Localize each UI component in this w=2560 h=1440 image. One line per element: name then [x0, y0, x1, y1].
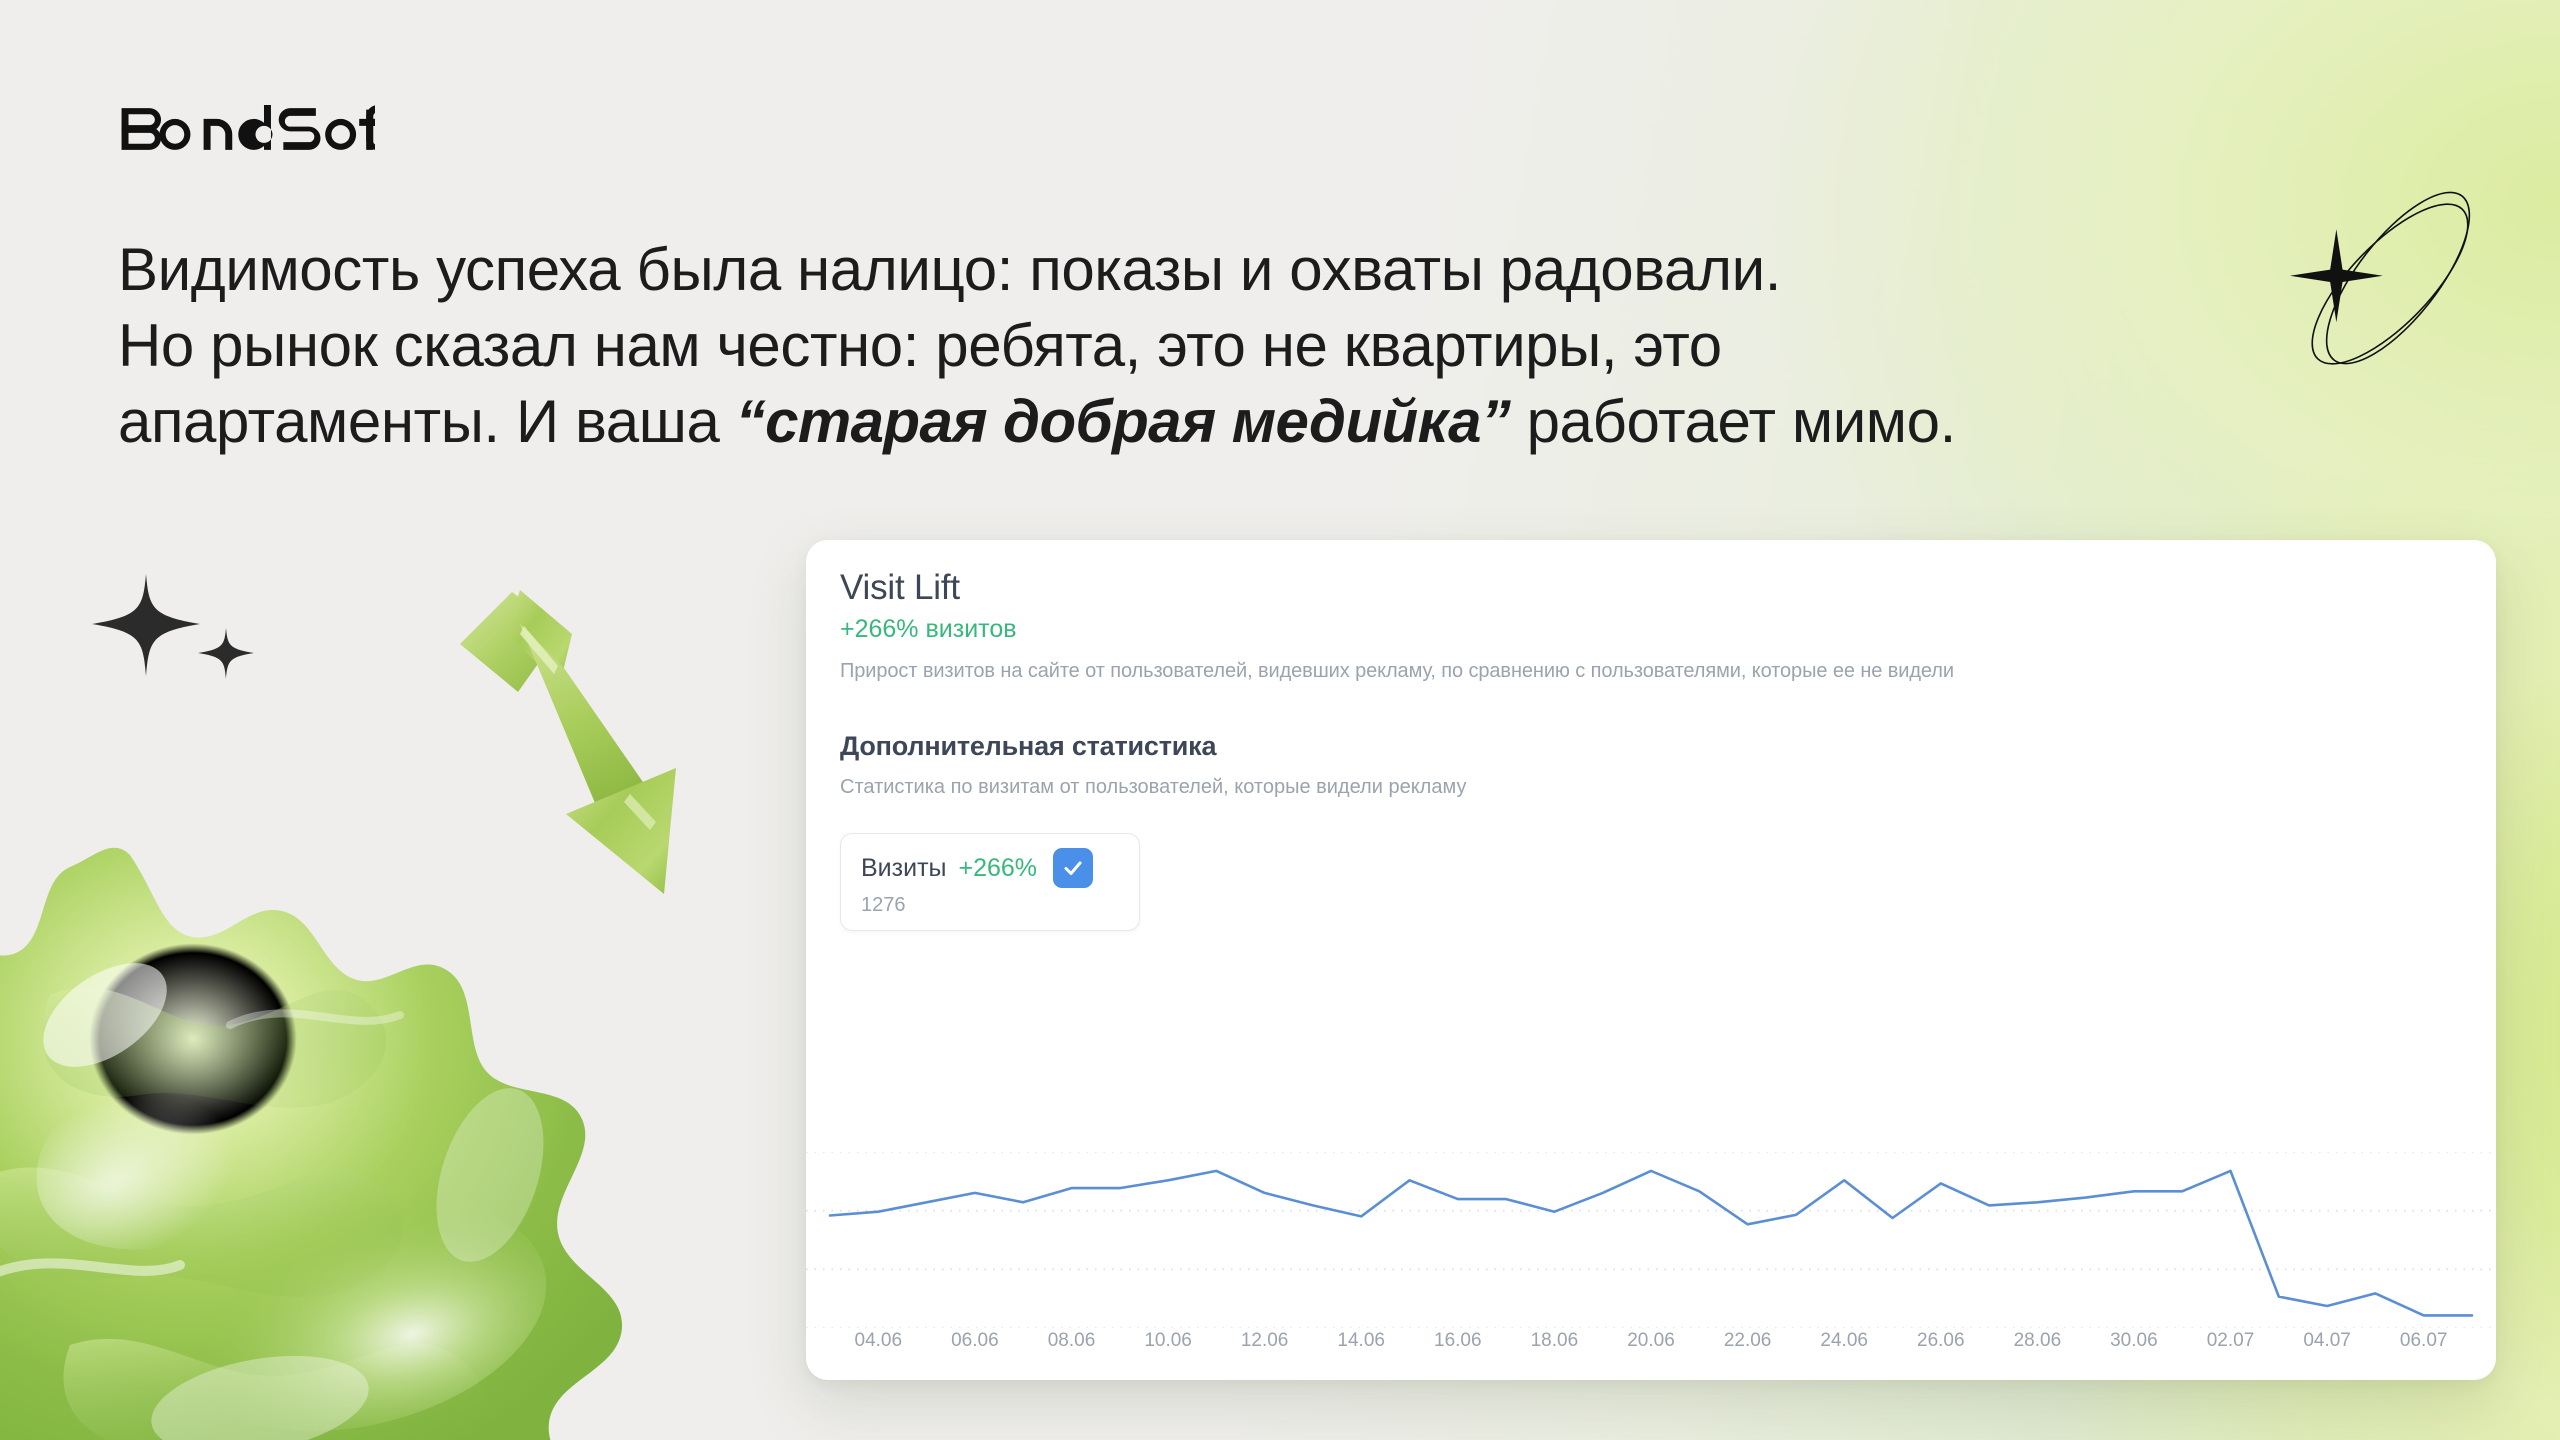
card-kpi-badge: +266% визитов — [840, 615, 2462, 644]
x-axis-tick: 24.06 — [1820, 1330, 1868, 1352]
visits-line-chart[interactable]: 04.0606.0608.0610.0612.0614.0616.0618.06… — [806, 1152, 2496, 1380]
headline-line-3-before: апартаменты. И ваша — [118, 388, 736, 455]
x-axis-tick: 26.06 — [1917, 1330, 1965, 1352]
x-axis-tick: 12.06 — [1241, 1330, 1289, 1352]
legend-value: 1276 — [861, 894, 1121, 917]
x-axis-tick: 14.06 — [1337, 1330, 1385, 1352]
legend-delta: +266% — [959, 854, 1038, 883]
x-axis-tick: 16.06 — [1434, 1330, 1482, 1352]
x-axis-tick: 22.06 — [1724, 1330, 1772, 1352]
sparkle-small-icon — [198, 628, 254, 679]
visit-lift-card: Visit Lift +266% визитов Прирост визитов… — [806, 540, 2496, 1380]
card-title: Visit Lift — [840, 568, 2462, 608]
headline-line-1: Видимость успеха была налицо: показы и о… — [118, 236, 1781, 303]
x-axis-tick: 10.06 — [1144, 1330, 1192, 1352]
sparkle-orbit-icon — [2248, 158, 2548, 398]
chart-x-axis: 04.0606.0608.0610.0612.0614.0616.0618.06… — [806, 1330, 2496, 1380]
x-axis-tick: 04.07 — [2303, 1330, 2351, 1352]
x-axis-tick: 28.06 — [2014, 1330, 2062, 1352]
check-icon — [1061, 856, 1085, 880]
headline-quoted-phrase: “старая добрая медийка” — [736, 388, 1511, 455]
x-axis-tick: 04.06 — [855, 1330, 903, 1352]
promo-slide: Видимость успеха была налицо: показы и о… — [0, 0, 2560, 1440]
legend-label: Визиты — [861, 854, 947, 883]
section-title: Дополнительная статистика — [840, 731, 2462, 762]
x-axis-tick: 18.06 — [1531, 1330, 1579, 1352]
x-axis-tick: 08.06 — [1048, 1330, 1096, 1352]
legend-checkbox[interactable] — [1053, 848, 1093, 888]
chart-gridlines — [806, 1152, 2496, 1328]
chart-series-visits — [830, 1171, 2472, 1316]
x-axis-tick: 06.07 — [2400, 1330, 2448, 1352]
x-axis-tick: 20.06 — [1627, 1330, 1675, 1352]
sparkle-pair-decoration — [88, 566, 278, 691]
legend-chip-visits[interactable]: Визиты +266% 1276 — [840, 833, 1140, 931]
headline-line-3-after: работает мимо. — [1510, 388, 1956, 455]
page-title: Видимость успеха была налицо: показы и о… — [118, 232, 2278, 461]
x-axis-tick: 06.06 — [951, 1330, 999, 1352]
sparkle-large-icon — [92, 574, 200, 676]
x-axis-tick: 02.07 — [2207, 1330, 2255, 1352]
headline-line-2: Но рынок сказал нам честно: ребята, это … — [118, 312, 1722, 379]
section-description: Статистика по визитам от пользователей, … — [840, 776, 2462, 799]
headline-line-3: апартаменты. И ваша “старая добрая медий… — [118, 388, 1956, 455]
bondsoft-logo — [120, 105, 375, 153]
green-glossy-blob-icon — [0, 845, 660, 1440]
chart-plot-area — [806, 1152, 2496, 1328]
x-axis-tick: 30.06 — [2110, 1330, 2158, 1352]
card-description: Прирост визитов на сайте от пользователе… — [840, 660, 2462, 683]
